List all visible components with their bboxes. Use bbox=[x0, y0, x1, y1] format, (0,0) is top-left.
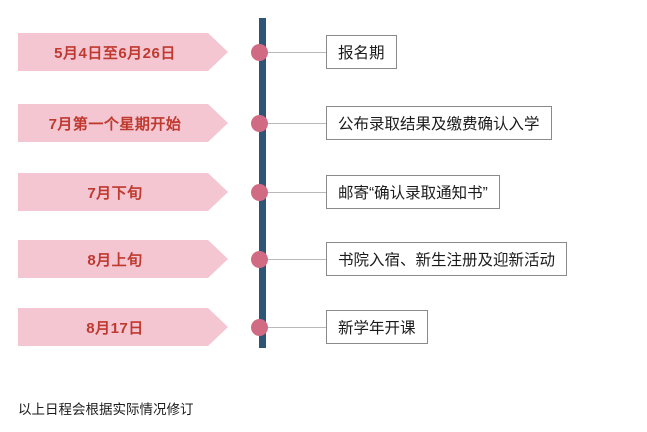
timeline-event-box: 邮寄“确认录取通知书” bbox=[326, 175, 500, 209]
timeline-event-box: 新学年开课 bbox=[326, 310, 428, 344]
timeline-event-box: 报名期 bbox=[326, 35, 397, 69]
timeline-event-box: 书院入宿、新生注册及迎新活动 bbox=[326, 242, 567, 276]
timeline-connector bbox=[268, 52, 326, 53]
timeline-date-banner: 7月下旬 bbox=[18, 173, 228, 211]
timeline-dot bbox=[251, 184, 268, 201]
timeline-dot bbox=[251, 115, 268, 132]
timeline-dot bbox=[251, 251, 268, 268]
timeline-date-banner: 8月上旬 bbox=[18, 240, 228, 278]
timeline-row: 7月下旬 邮寄“确认录取通知书” bbox=[0, 173, 647, 219]
timeline-row: 8月上旬 书院入宿、新生注册及迎新活动 bbox=[0, 240, 647, 286]
timeline-row: 8月17日 新学年开课 bbox=[0, 308, 647, 354]
timeline-dot bbox=[251, 319, 268, 336]
timeline-connector bbox=[268, 123, 326, 124]
timeline-connector bbox=[268, 327, 326, 328]
timeline-diagram: 5月4日至6月26日 报名期 7月第一个星期开始 公布录取结果及缴费确认入学 7… bbox=[0, 0, 647, 432]
timeline-connector bbox=[268, 259, 326, 260]
timeline-row: 7月第一个星期开始 公布录取结果及缴费确认入学 bbox=[0, 104, 647, 150]
timeline-date-banner: 7月第一个星期开始 bbox=[18, 104, 228, 142]
timeline-date-banner: 5月4日至6月26日 bbox=[18, 33, 228, 71]
timeline-row: 5月4日至6月26日 报名期 bbox=[0, 33, 647, 79]
timeline-connector bbox=[268, 192, 326, 193]
timeline-date-banner: 8月17日 bbox=[18, 308, 228, 346]
timeline-event-box: 公布录取结果及缴费确认入学 bbox=[326, 106, 552, 140]
timeline-dot bbox=[251, 44, 268, 61]
footnote: 以上日程会根据实际情况修订 bbox=[18, 398, 194, 418]
